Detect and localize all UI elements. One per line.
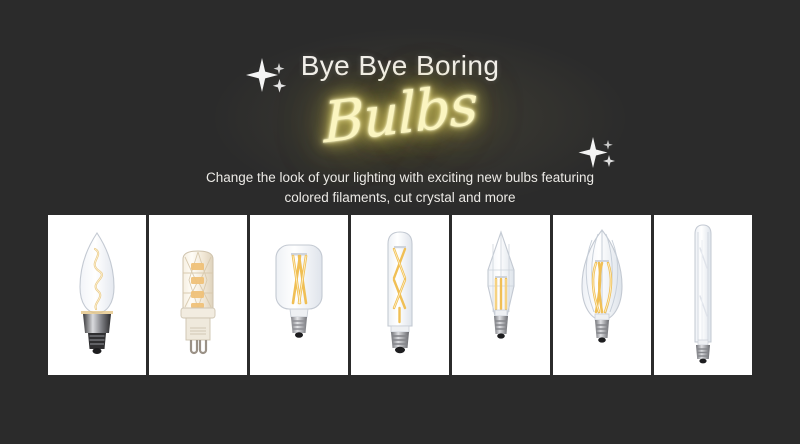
product-panel-short-cylinder-filament-bulb[interactable] — [250, 215, 351, 375]
product-panel-slim-tall-tube-bulb[interactable] — [654, 215, 752, 375]
g9-crystal-cut-capsule-bulb-icon — [167, 225, 229, 365]
page-title: Bye Bye Boring — [0, 50, 800, 82]
subtitle: Change the look of your lighting with ex… — [0, 168, 800, 208]
slim-tall-tube-bulb-icon — [685, 220, 721, 370]
product-panel-twisted-flame-candle-bulb[interactable] — [553, 215, 654, 375]
product-panel-tubular-t-filament-bulb[interactable] — [351, 215, 452, 375]
product-image-strip — [48, 215, 752, 375]
twisted-flame-candle-bulb-icon — [568, 224, 636, 366]
product-panel-diamond-tip-filament-bulb[interactable] — [452, 215, 553, 375]
product-panel-g9-crystal-cut-capsule-bulb[interactable] — [149, 215, 250, 375]
subtitle-line-1: Change the look of your lighting with ex… — [0, 168, 800, 188]
neon-sign: Bulbs — [0, 82, 800, 154]
spiral-filament-candle-bulb-icon — [65, 225, 129, 365]
product-panel-spiral-filament-candle-bulb[interactable] — [48, 215, 149, 375]
tubular-t-filament-bulb-icon — [375, 222, 425, 368]
subtitle-line-2: colored filaments, cut crystal and more — [0, 188, 800, 208]
neon-word-bulbs: Bulbs — [323, 72, 478, 156]
promo-banner: Bye Bye Boring Bulbs Change the look of … — [0, 0, 800, 444]
short-cylinder-filament-bulb-icon — [266, 225, 332, 365]
sparkle-cluster-left-icon — [246, 54, 298, 102]
diamond-tip-filament-bulb-icon — [472, 224, 530, 366]
